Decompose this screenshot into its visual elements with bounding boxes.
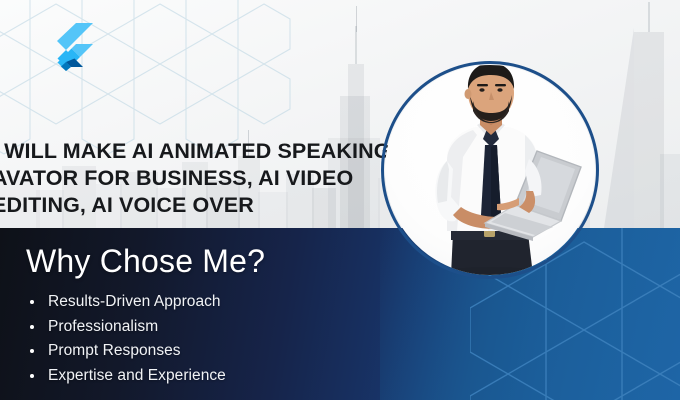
offer-title: Why Chose Me? (26, 243, 265, 279)
portrait-ring-border (381, 61, 599, 279)
list-item: Expertise and Experience (30, 364, 226, 389)
benefit-label: Prompt Responses (48, 339, 181, 364)
gig-thumbnail-image: I WILL MAKE AI ANIMATED SPEAKING AVATOR … (0, 0, 680, 400)
headline-line-3: EDITING, AI VOICE OVER (0, 192, 392, 219)
bullet-dot-icon (30, 325, 34, 329)
headline: I WILL MAKE AI ANIMATED SPEAKING AVATOR … (0, 138, 392, 219)
list-item: Prompt Responses (30, 339, 226, 364)
bullet-dot-icon (30, 300, 34, 304)
headline-line-1: I WILL MAKE AI ANIMATED SPEAKING (0, 138, 392, 165)
benefit-label: Results-Driven Approach (48, 290, 221, 315)
benefits-list: Results-Driven Approach Professionalism … (30, 290, 226, 388)
bullet-dot-icon (30, 349, 34, 353)
portrait-circle (381, 61, 599, 279)
bullet-dot-icon (30, 374, 34, 378)
list-item: Results-Driven Approach (30, 290, 226, 315)
list-item: Professionalism (30, 315, 226, 340)
flutter-logo-icon (50, 22, 94, 76)
benefit-label: Expertise and Experience (48, 364, 226, 389)
benefit-label: Professionalism (48, 315, 158, 340)
headline-line-2: AVATOR FOR BUSINESS, AI VIDEO (0, 165, 392, 192)
